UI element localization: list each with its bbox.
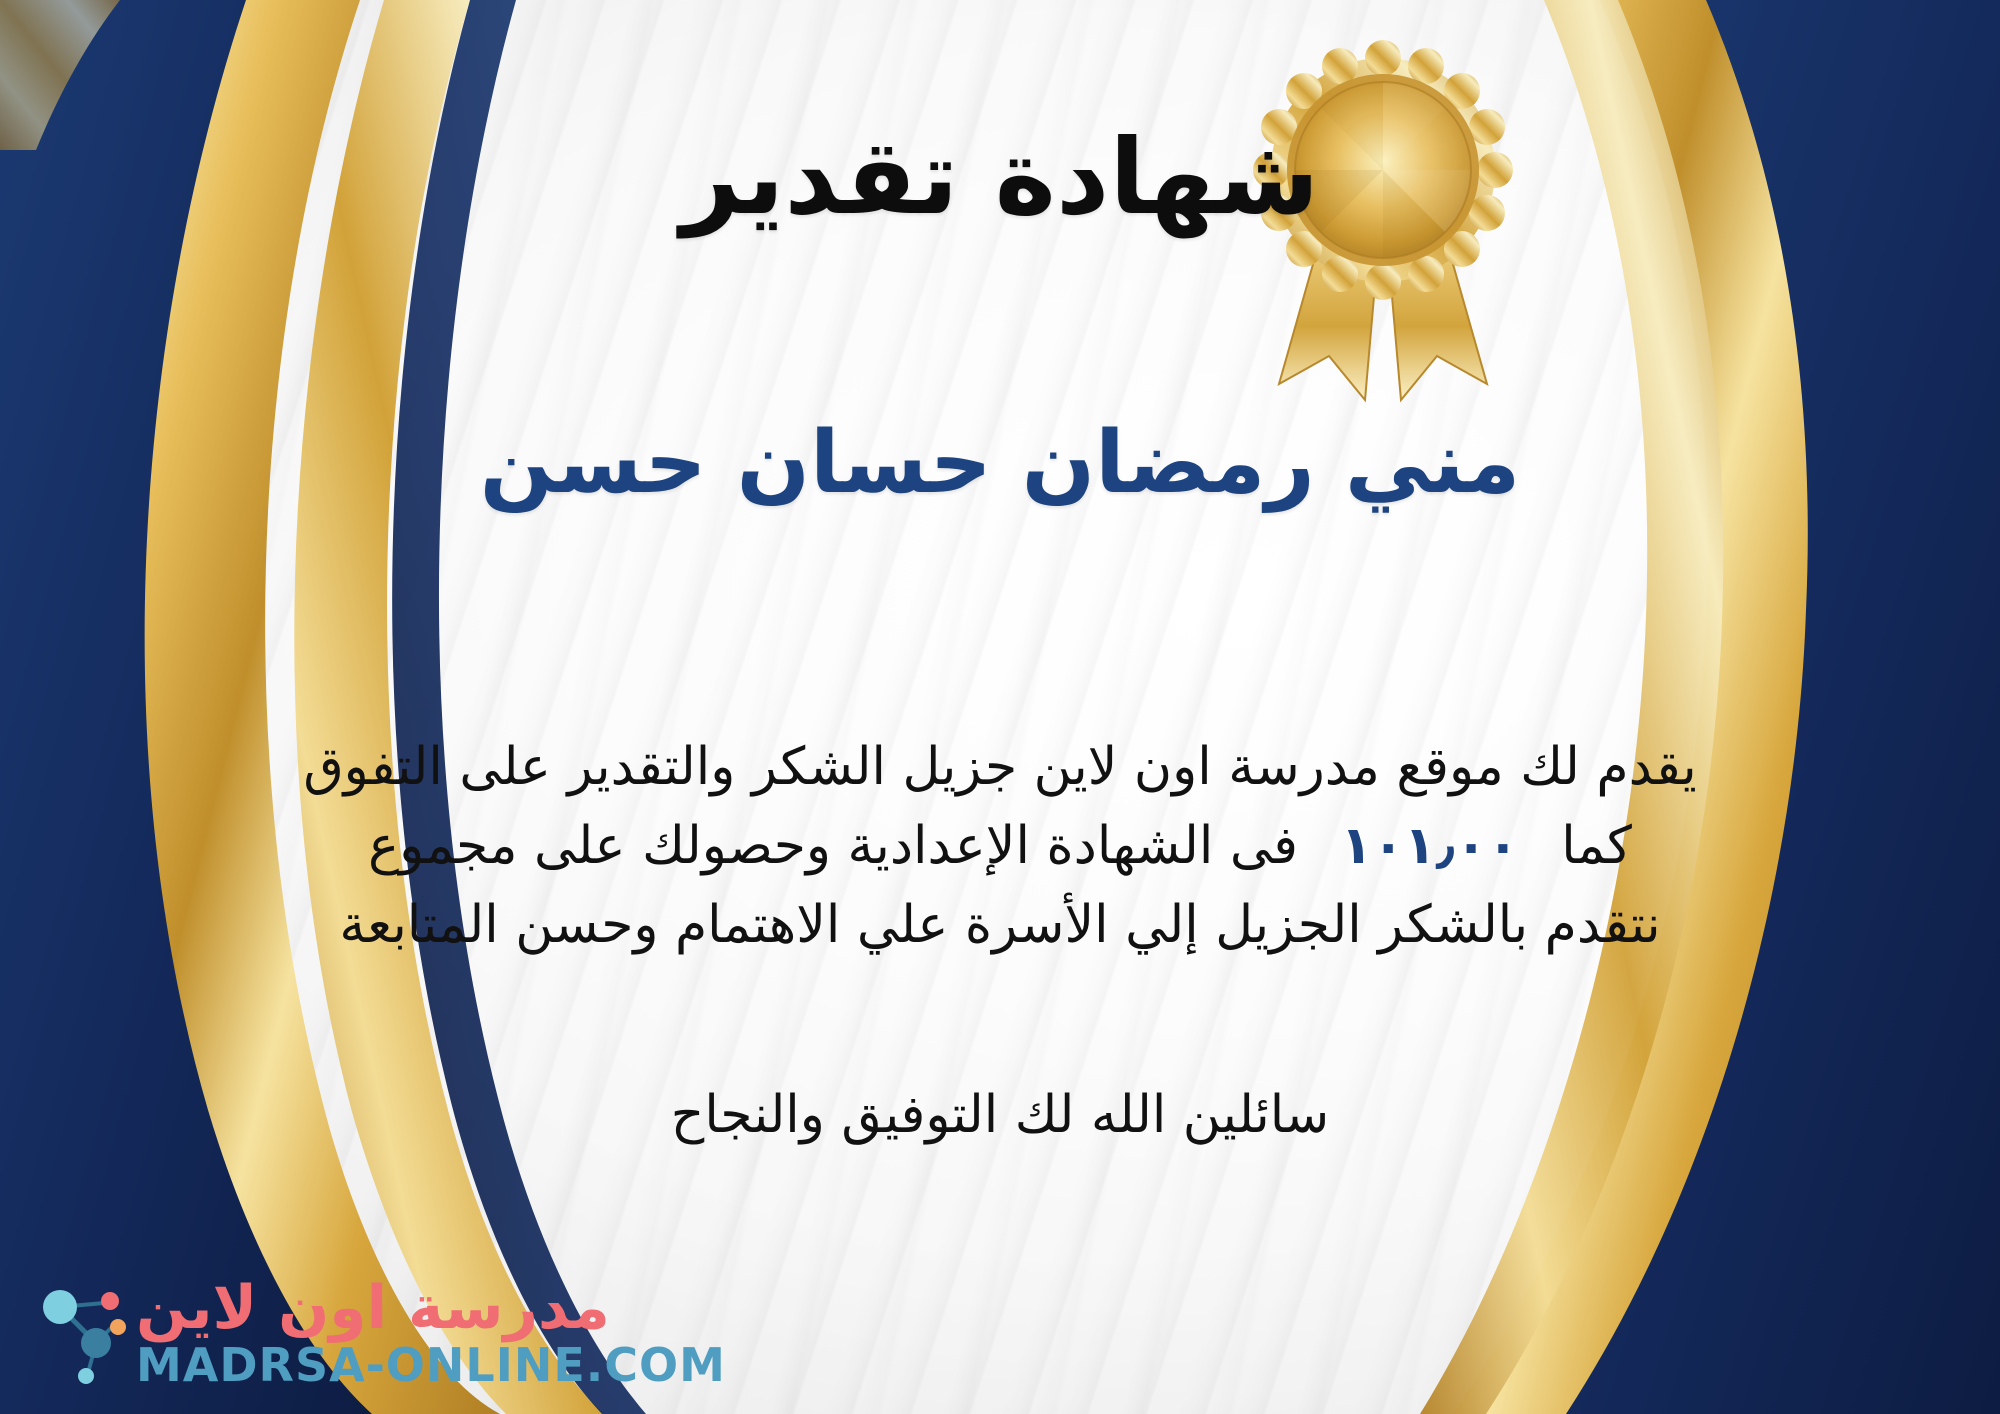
- brand-logo[interactable]: مدرسة اون لاين MADRSA-ONLINE.COM: [30, 1278, 726, 1388]
- brand-website: MADRSA-ONLINE.COM: [136, 1342, 726, 1388]
- recipient-name: مني رمضان حسان حسن: [0, 412, 2000, 515]
- body-line-2: كما ١٠١٫٠٠ فى الشهادة الإعدادية وحصولك ع…: [70, 807, 1930, 886]
- grade-total-value: ١٠١٫٠٠: [1315, 816, 1545, 876]
- closing-line: سائلين الله لك التوفيق والنجاح: [0, 1085, 2000, 1145]
- body-line-2-right: كما: [1561, 816, 1632, 876]
- body-line-2-left: فى الشهادة الإعدادية وحصولك على مجموع: [368, 816, 1298, 876]
- brand-arabic-name: مدرسة اون لاين: [136, 1278, 610, 1338]
- certificate-content: شهادة تقدير مني رمضان حسان حسن يقدم لك م…: [0, 0, 2000, 1414]
- certificate-body: يقدم لك موقع مدرسة اون لاين جزيل الشكر و…: [70, 728, 1930, 965]
- body-line-3: نتقدم بالشكر الجزيل إلي الأسرة علي الاهت…: [70, 886, 1930, 965]
- certificate-page: شهادة تقدير مني رمضان حسان حسن يقدم لك م…: [0, 0, 2000, 1414]
- page-title: شهادة تقدير: [0, 120, 2000, 234]
- network-nodes-icon: [30, 1281, 126, 1385]
- brand-text: مدرسة اون لاين MADRSA-ONLINE.COM: [136, 1278, 726, 1388]
- body-line-1: يقدم لك موقع مدرسة اون لاين جزيل الشكر و…: [70, 728, 1930, 807]
